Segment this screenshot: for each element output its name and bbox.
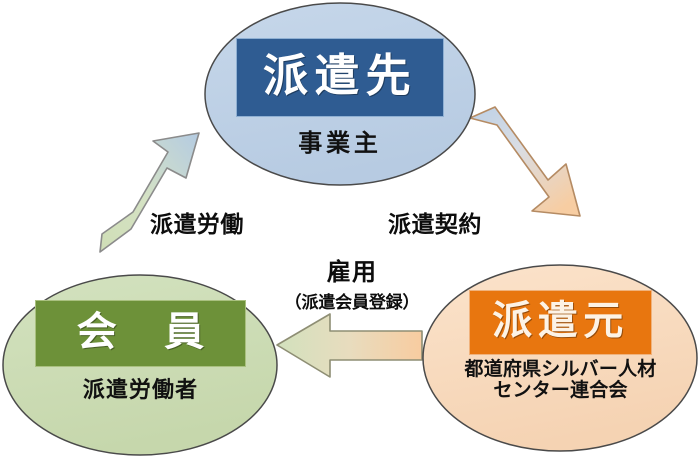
arrow-member-to-destination (100, 133, 199, 252)
node-ellipse-dispatch-source (423, 265, 697, 451)
diagram-canvas (0, 0, 700, 457)
node-ellipse-member (3, 275, 277, 455)
arrow-source-to-member (277, 314, 422, 377)
node-ellipse-dispatch-destination (205, 3, 475, 185)
arrow-destination-to-source (470, 107, 580, 216)
dispatch-flow-diagram: 派遣先 事業主 会 員 派遣労働者 派遣元 都道府県シルバー人材 センター連合会… (0, 0, 700, 457)
